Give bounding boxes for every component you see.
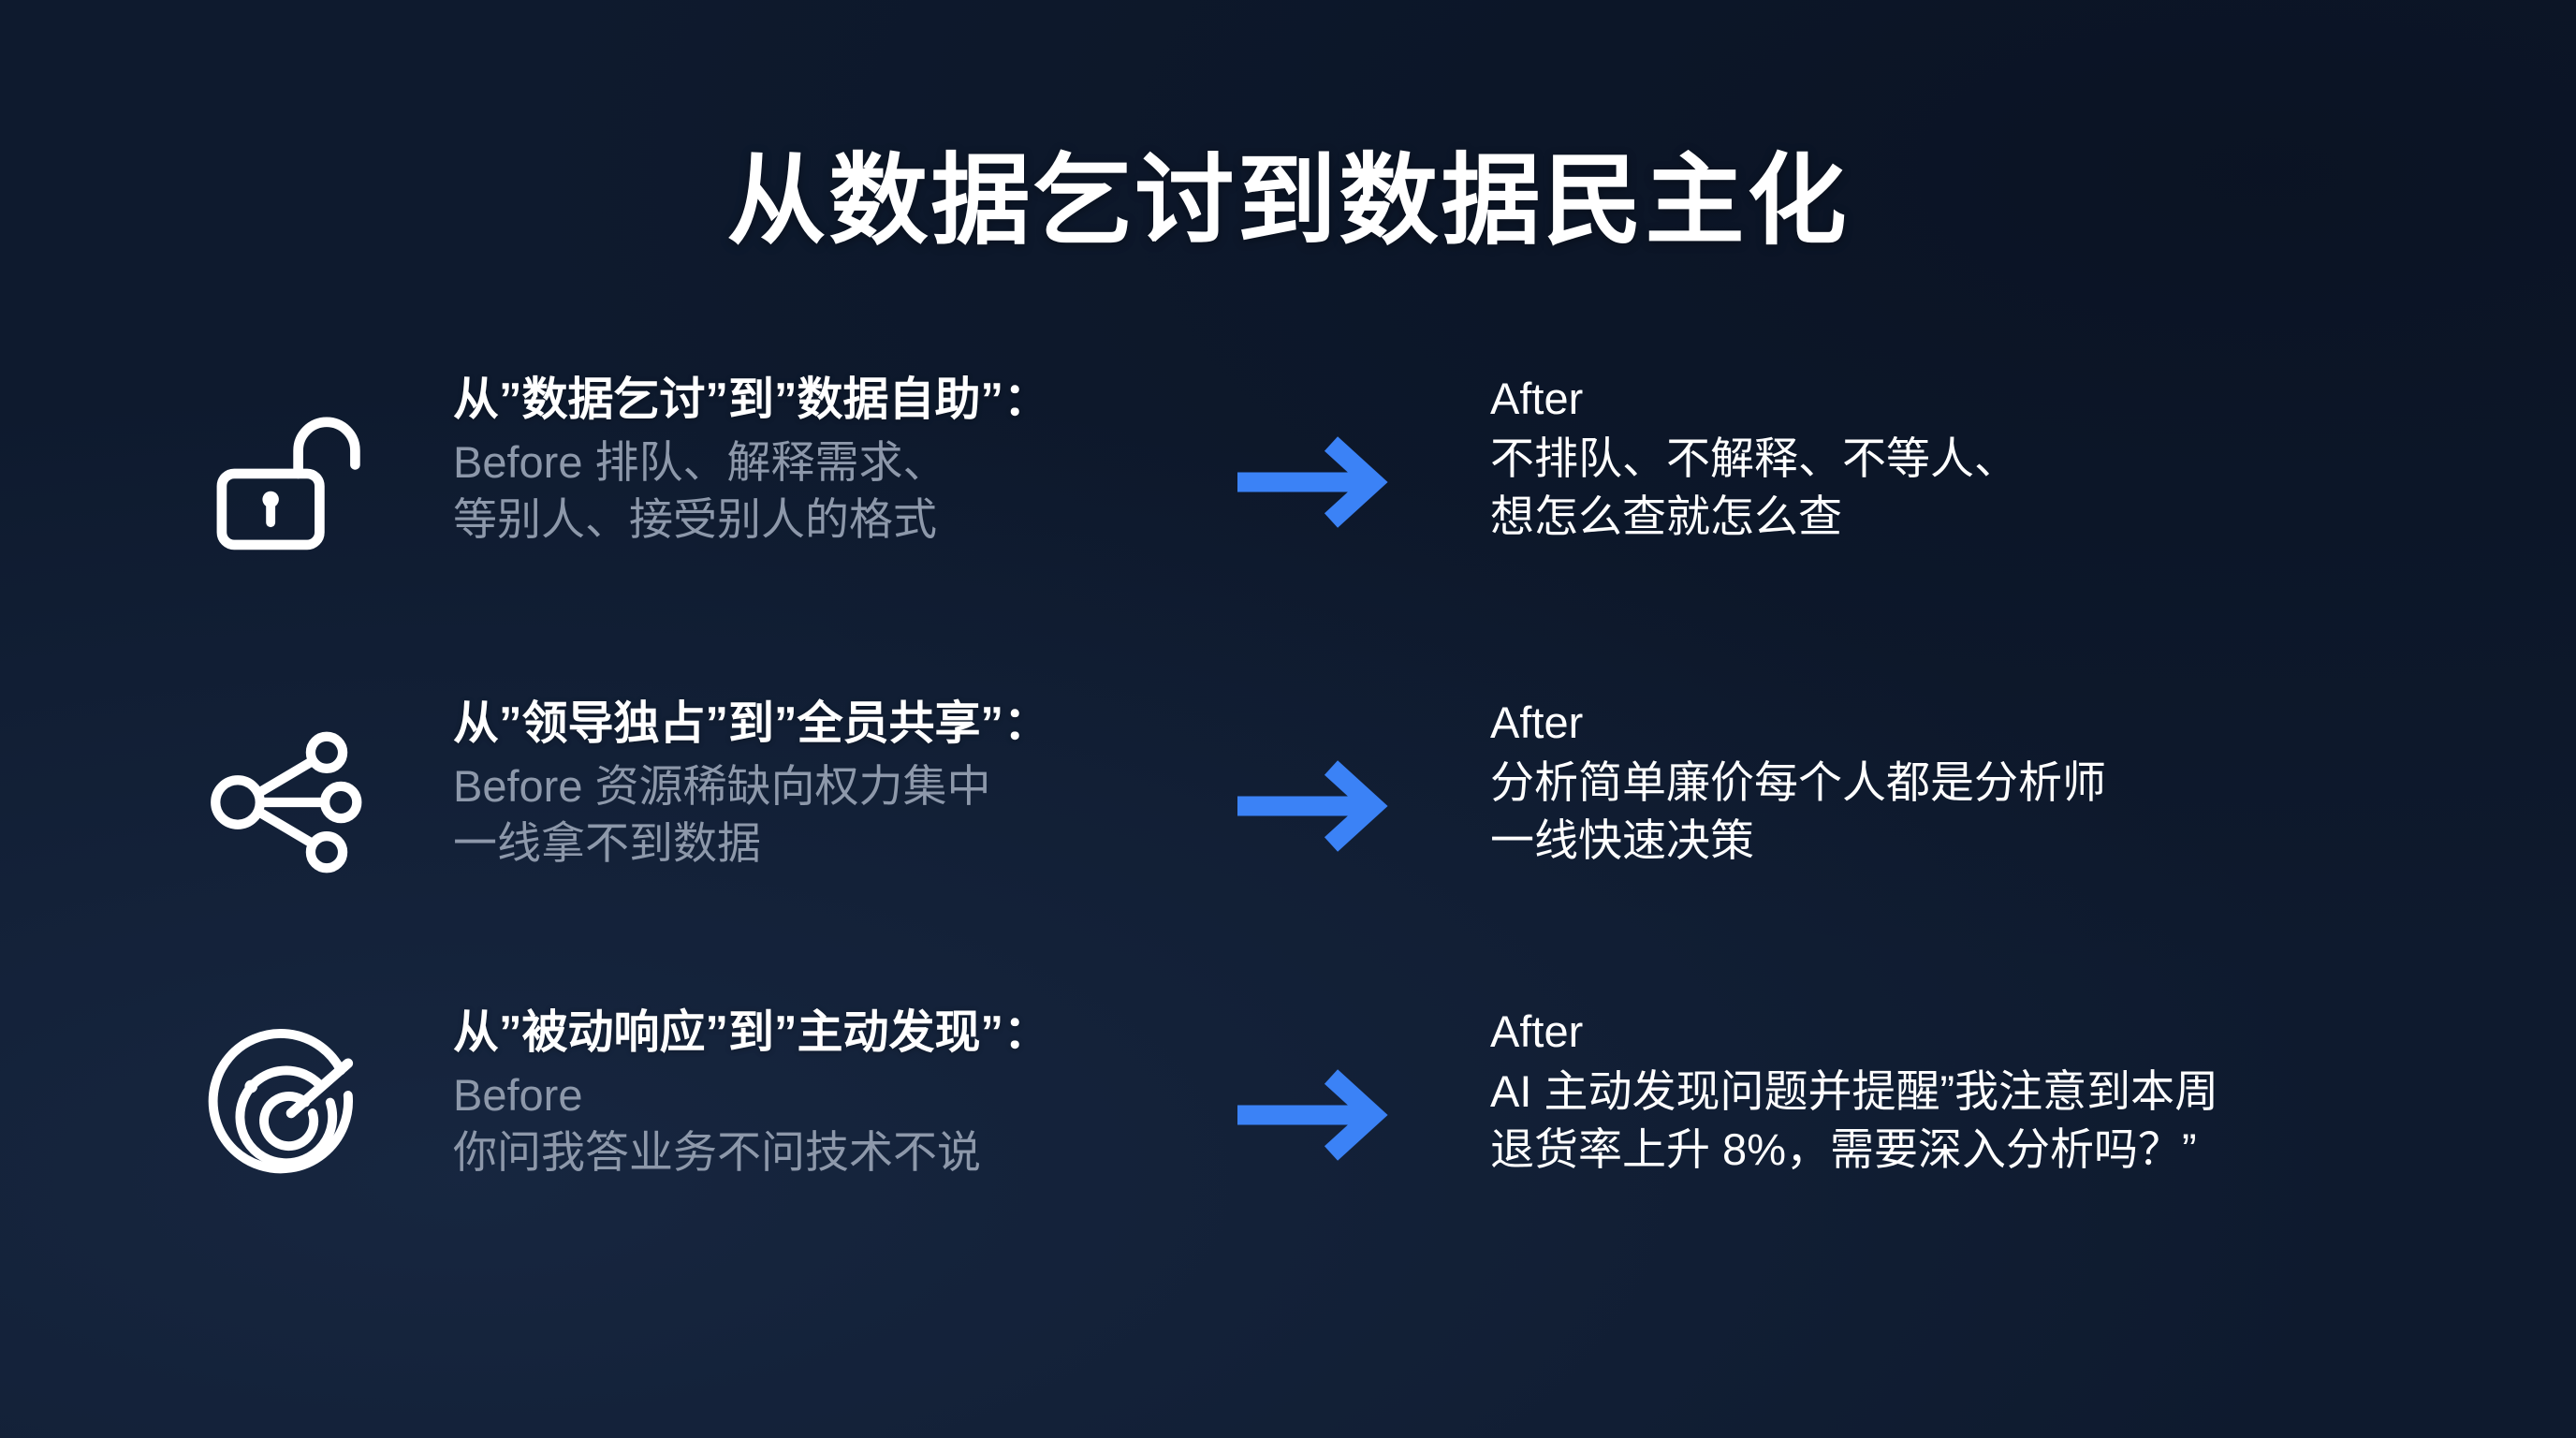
before-line: Before 排队、解释需求、: [453, 433, 1202, 491]
after-line: 一线快速决策: [1490, 812, 2501, 869]
slide-canvas: 从数据乞讨到数据民主化 从”数据乞讨”到”数据自助”： Before 排队、解释…: [0, 0, 2576, 1438]
before-block: 从”被动响应”到”主动发现”： Before 你问我答业务不问技术不说: [453, 1005, 1202, 1181]
before-body: Before 你问我答业务不问技术不说: [453, 1066, 1202, 1181]
after-line: 分析简单廉价每个人都是分析师: [1490, 754, 2501, 811]
before-line: Before: [453, 1066, 1202, 1123]
after-line: 不排队、不解释、不等人、: [1490, 430, 2501, 487]
item-heading: 从”被动响应”到”主动发现”：: [453, 1005, 1202, 1062]
after-block: After 分析简单廉价每个人都是分析师 一线快速决策: [1490, 697, 2501, 869]
before-block: 从”领导独占”到”全员共享”： Before 资源稀缺向权力集中 一线拿不到数据: [453, 697, 1202, 872]
after-line: AI 主动发现问题并提醒”我注意到本周: [1490, 1063, 2501, 1120]
after-line: 退货率上升 8%，需要深入分析吗？”: [1490, 1121, 2501, 1178]
share-network-icon: [183, 713, 399, 929]
after-line: 想怎么查就怎么查: [1490, 488, 2501, 545]
comparison-row: 从”被动响应”到”主动发现”： Before 你问我答业务不问技术不说 Afte…: [0, 1011, 2576, 1320]
arrow-right-icon: [1234, 427, 1402, 539]
radar-icon: [183, 1024, 399, 1240]
item-heading: 从”领导独占”到”全员共享”：: [453, 697, 1202, 753]
arrow-right-icon: [1234, 751, 1402, 863]
after-block: After AI 主动发现问题并提醒”我注意到本周 退货率上升 8%，需要深入分…: [1490, 1005, 2501, 1178]
before-line: 一线拿不到数据: [453, 814, 1202, 872]
arrow-right-icon: [1234, 1060, 1402, 1172]
before-body: Before 排队、解释需求、 等别人、接受别人的格式: [453, 433, 1202, 548]
after-label: After: [1490, 1005, 2501, 1057]
after-body: 不排队、不解释、不等人、 想怎么查就怎么查: [1490, 430, 2501, 544]
after-label: After: [1490, 373, 2501, 424]
before-body: Before 资源稀缺向权力集中 一线拿不到数据: [453, 757, 1202, 872]
comparison-row: 从”数据乞讨”到”数据自助”： Before 排队、解释需求、 等别人、接受别人…: [0, 373, 2576, 702]
after-label: After: [1490, 697, 2501, 748]
before-line: Before 资源稀缺向权力集中: [453, 757, 1202, 814]
after-body: 分析简单廉价每个人都是分析师 一线快速决策: [1490, 754, 2501, 868]
after-block: After 不排队、不解释、不等人、 想怎么查就怎么查: [1490, 373, 2501, 545]
unlock-icon: [183, 401, 399, 616]
before-block: 从”数据乞讨”到”数据自助”： Before 排队、解释需求、 等别人、接受别人…: [453, 373, 1202, 548]
before-line: 你问我答业务不问技术不说: [453, 1123, 1202, 1181]
item-heading: 从”数据乞讨”到”数据自助”：: [453, 373, 1202, 429]
comparison-row: 从”领导独占”到”全员共享”： Before 资源稀缺向权力集中 一线拿不到数据…: [0, 702, 2576, 1011]
after-body: AI 主动发现问题并提醒”我注意到本周 退货率上升 8%，需要深入分析吗？”: [1490, 1063, 2501, 1177]
page-title: 从数据乞讨到数据民主化: [0, 120, 2576, 264]
comparison-rows: 从”数据乞讨”到”数据自助”： Before 排队、解释需求、 等别人、接受别人…: [0, 373, 2576, 1320]
before-line: 等别人、接受别人的格式: [453, 491, 1202, 548]
